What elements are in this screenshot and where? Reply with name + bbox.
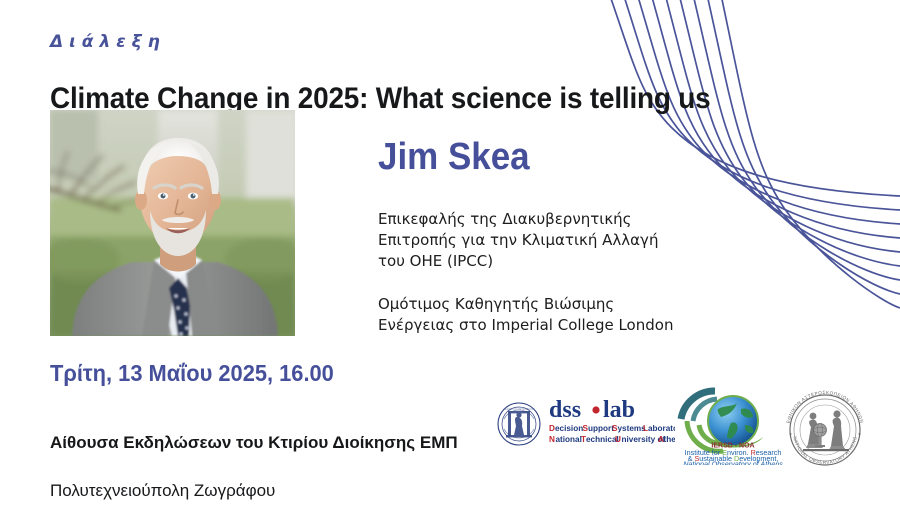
venue-line-primary: Αίθουσα Εκδηλώσεων του Κτιρίου Διοίκησης… xyxy=(50,431,458,455)
svg-text:N: N xyxy=(549,435,555,444)
svg-text:aboratory: aboratory xyxy=(648,424,675,433)
speaker-affiliation: Ομότιμος Καθηγητής Βιώσιμης Ενέργειας στ… xyxy=(378,294,673,336)
svg-text:U: U xyxy=(615,435,621,444)
dss-lab-logo[interactable]: ΕΘΝΙΚΟΝ ΜΕΤΣΟΒΙΟΝ dss lab D ecision S up… xyxy=(495,393,675,455)
venue-line-secondary: Πολυτεχνειούπολη Ζωγράφου xyxy=(50,479,458,503)
svg-text:ystems: ystems xyxy=(618,424,647,433)
event-date: Τρίτη, 13 Μαΐου 2025, 16.00 xyxy=(50,360,334,387)
event-venue: Αίθουσα Εκδηλώσεων του Κτιρίου Διοίκησης… xyxy=(50,407,458,506)
kicker-label: Διάλεξη xyxy=(50,32,166,52)
noa-seal-logo[interactable]: ΕΘΝΙΚΟΝ ΑΣΤΕΡΟΣΚΟΠΕΙΟΝ ΑΘΗΝΩΝ NATIONAL O… xyxy=(775,388,885,468)
svg-text:lab: lab xyxy=(603,397,635,423)
dss-lab-wordmark: dss xyxy=(549,397,581,423)
svg-text:National Observatory of Athens: National Observatory of Athens xyxy=(683,460,783,466)
svg-text:ational: ational xyxy=(556,435,582,444)
ntua-prometheus-seal: ΕΘΝΙΚΟΝ ΜΕΤΣΟΒΙΟΝ xyxy=(498,403,540,445)
svg-text:upport: upport xyxy=(588,424,614,433)
logo-strip: ΕΘΝΙΚΟΝ ΜΕΤΣΟΒΙΟΝ dss lab D ecision S up… xyxy=(495,385,885,470)
svg-text:ecision: ecision xyxy=(555,424,583,433)
jim-skea-portrait xyxy=(50,110,295,336)
svg-text:echnical: echnical xyxy=(586,435,619,444)
speaker-role: Επικεφαλής της Διακυβερνητικής Επιτροπής… xyxy=(378,209,658,272)
svg-text:ΕΘΝΙΚΟΝ ΜΕΤΣΟΒΙΟΝ: ΕΘΝΙΚΟΝ ΜΕΤΣΟΒΙΟΝ xyxy=(505,407,533,411)
poster-canvas: Διάλεξη Climate Change in 2025: What sci… xyxy=(0,0,900,506)
speaker-name: Jim Skea xyxy=(378,136,530,179)
